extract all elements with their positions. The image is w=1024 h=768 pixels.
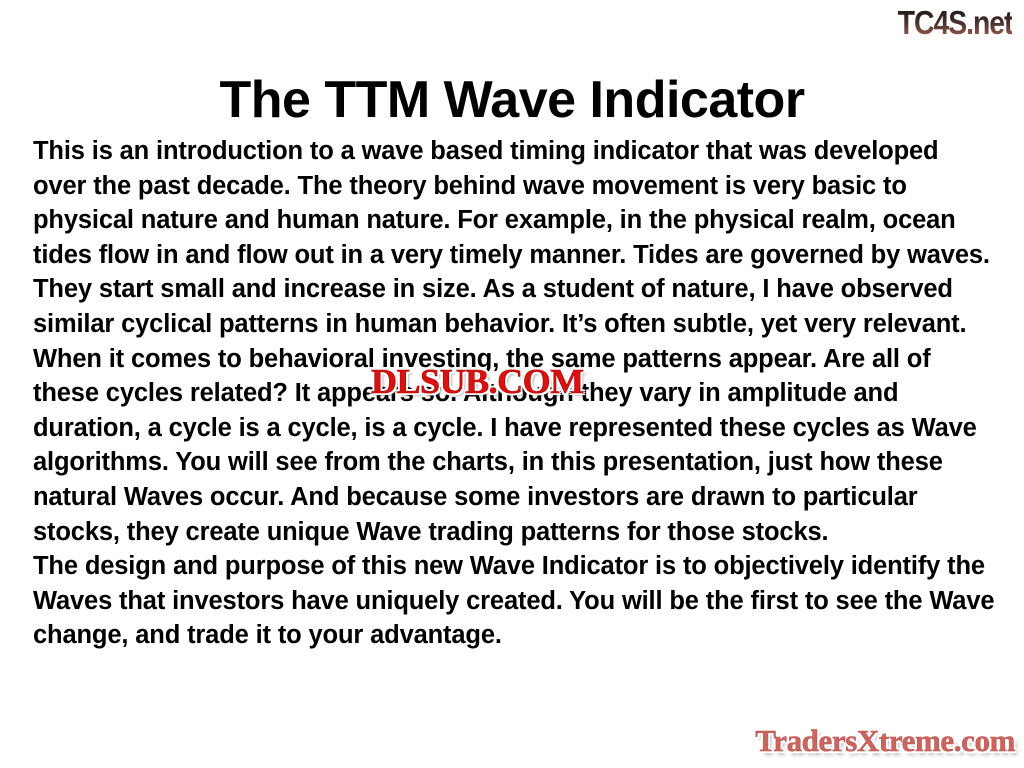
body-paragraph-2: The design and purpose of this new Wave … [33, 549, 995, 653]
dlsub-com-watermark: DLSUB.COM [371, 362, 584, 402]
tradersxtreme-com-watermark: TradersXtreme.com [755, 723, 1015, 759]
presentation-slide: TC4S.net The TTM Wave Indicator This is … [0, 0, 1024, 768]
tc4s-net-watermark: TC4S.net [897, 4, 1012, 42]
page-title: The TTM Wave Indicator [0, 73, 1024, 128]
body-paragraph-1: This is an introduction to a wave based … [33, 134, 995, 549]
